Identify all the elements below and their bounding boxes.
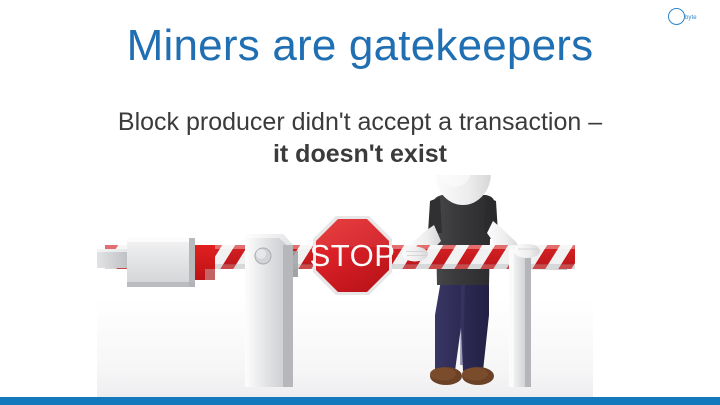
subtitle-line-1: Block producer didn't accept a transacti… <box>118 108 602 136</box>
subtitle-line-2: it doesn't exist <box>0 138 720 170</box>
logo-wordmark: byte <box>685 15 697 21</box>
slide: byte Miners are gatekeepers Block produc… <box>0 0 720 405</box>
page-title: Miners are gatekeepers <box>0 22 720 70</box>
barrier-support-post-front <box>509 249 531 387</box>
stop-sign-label-front: STOP <box>310 238 396 273</box>
illustration-image: STOP <box>97 175 593 397</box>
stop-sign-front: STOP <box>310 216 396 295</box>
barrier-main-post-front <box>245 234 298 387</box>
subtitle: Block producer didn't accept a transacti… <box>0 106 720 170</box>
bottom-accent-bar <box>0 397 720 405</box>
